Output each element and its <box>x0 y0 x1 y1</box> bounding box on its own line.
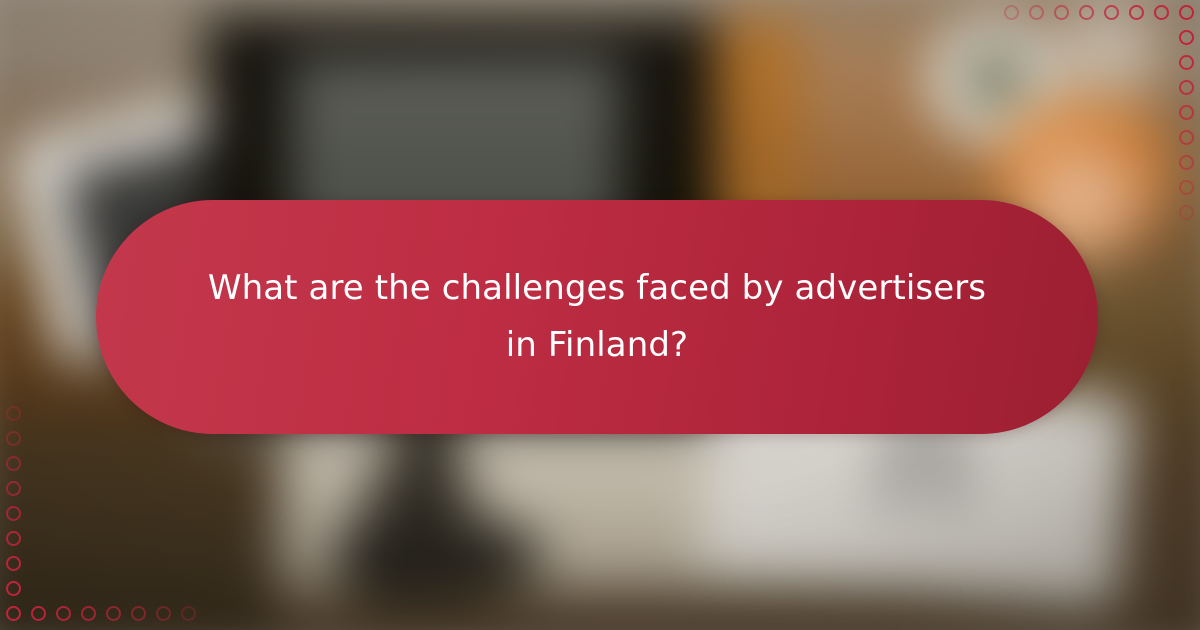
decorative-dot <box>1179 130 1194 145</box>
decorative-dot <box>1179 55 1194 70</box>
decorative-dot <box>1029 5 1044 20</box>
decorative-dot <box>1179 5 1194 20</box>
decorative-dot <box>156 606 171 621</box>
decorative-dot <box>6 556 21 571</box>
decorative-dot <box>1054 5 1069 20</box>
decorative-dot <box>1004 5 1019 20</box>
decorative-dot <box>6 481 21 496</box>
decorative-dot <box>1179 155 1194 170</box>
decorative-dot <box>31 606 46 621</box>
decorative-dot <box>1129 5 1144 20</box>
decorative-dot <box>1179 80 1194 95</box>
decorative-dot <box>131 606 146 621</box>
decorative-dot <box>1179 30 1194 45</box>
decorative-dot <box>1179 105 1194 120</box>
decorative-dot <box>6 456 21 471</box>
decorative-dot <box>6 506 21 521</box>
background-shadow-corner <box>0 430 280 630</box>
decorative-dot <box>181 606 196 621</box>
background-cable <box>360 430 480 600</box>
decorative-dot <box>6 431 21 446</box>
decorative-dot <box>6 406 21 421</box>
decorative-dot <box>56 606 71 621</box>
question-text: What are the challenges faced by adverti… <box>157 260 1037 374</box>
decorative-dot <box>1179 205 1194 220</box>
question-banner: What are the challenges faced by adverti… <box>96 200 1098 434</box>
decorative-dot <box>6 581 21 596</box>
decorative-dot <box>106 606 121 621</box>
decorative-dot <box>1079 5 1094 20</box>
decorative-dot <box>1154 5 1169 20</box>
decorative-dot <box>1104 5 1119 20</box>
decorative-dot <box>6 531 21 546</box>
decorative-dot <box>1179 180 1194 195</box>
promo-card: What are the challenges faced by adverti… <box>0 0 1200 630</box>
decorative-dot <box>81 606 96 621</box>
decorative-dot <box>6 606 21 621</box>
